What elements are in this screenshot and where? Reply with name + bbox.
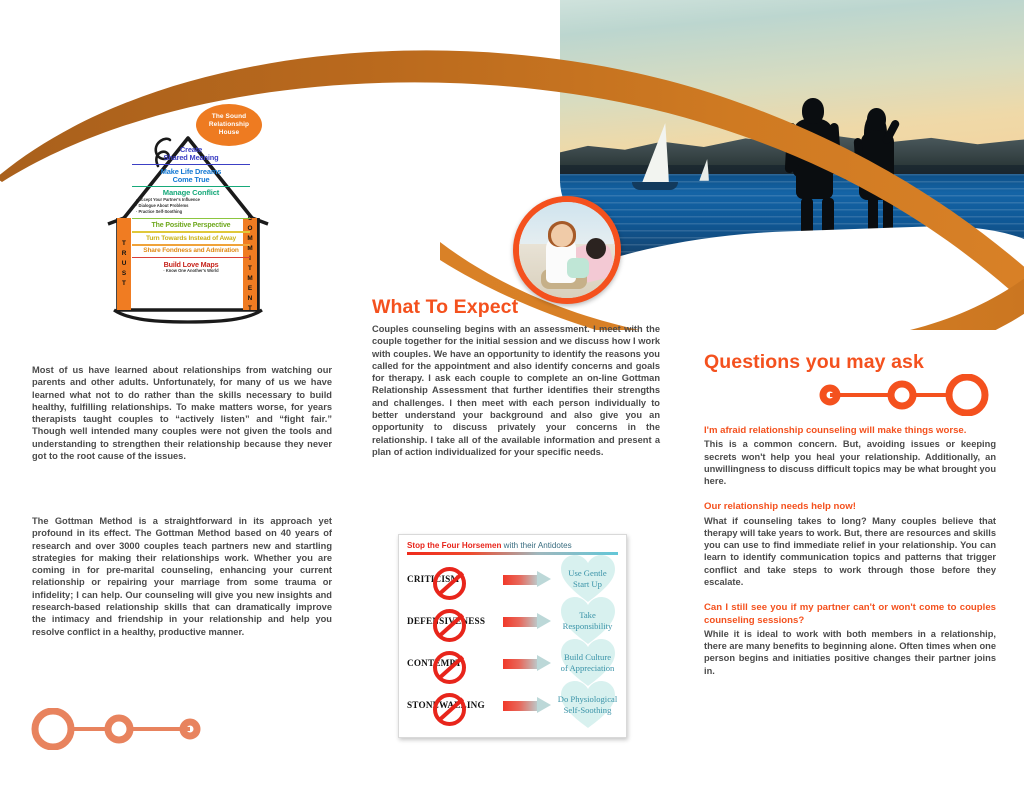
four-horsemen-chart: Stop the Four Horsemen with their Antido… xyxy=(398,534,627,738)
level-rule xyxy=(132,164,250,165)
dot-connector-left xyxy=(16,708,208,750)
horseman-cell: STONEWALLING xyxy=(407,700,503,710)
antidote-label: Build Cultureof Appreciation xyxy=(557,652,618,673)
arrow-icon xyxy=(503,571,555,587)
antidote-cell: TakeResponsibility xyxy=(557,610,618,631)
question-text: Our relationship needs help now! xyxy=(704,501,996,513)
inset-photo-counselor xyxy=(513,196,621,304)
left-column-paragraph-2: The Gottman Method is a straightforward … xyxy=(32,515,332,638)
answer-text: While it is ideal to work with both memb… xyxy=(704,628,996,677)
prohibition-icon xyxy=(433,693,466,726)
prohibition-icon xyxy=(433,609,466,642)
dot-connector-right xyxy=(812,374,1004,416)
question-text: I'm afraid relationship counseling will … xyxy=(704,425,996,437)
four-horsemen-title-light: with their Antidotes xyxy=(501,541,571,550)
brochure-page: The SoundRelationshipHouse TRUST COMMITM… xyxy=(0,0,1024,801)
questions-list: I'm afraid relationship counseling will … xyxy=(704,425,996,691)
what-to-expect-body: Couples counseling begins with an assess… xyxy=(372,323,660,458)
level-create-shared-meaning: CreateShared Meaning xyxy=(128,146,254,162)
level-make-life-dreams-come-true: Make Life DreamsCome True xyxy=(128,168,254,184)
level-rule xyxy=(132,186,250,187)
horseman-cell: CONTEMPT xyxy=(407,658,503,668)
four-horsemen-title-strong: Stop the Four Horsemen xyxy=(407,541,501,550)
antidote-cell: Do PhysiologicalSelf-Soothing xyxy=(557,694,618,715)
level-turn-towards-instead-of-away: Turn Towards Instead of Away xyxy=(128,235,254,242)
question-item: Our relationship needs help now! What if… xyxy=(704,501,996,588)
antidote-label: Use GentleStart Up xyxy=(557,568,618,589)
horseman-cell: DEFENSIVENESS xyxy=(407,616,503,626)
prohibition-icon xyxy=(433,567,466,600)
horseman-cell: CRITICISM xyxy=(407,574,503,584)
antidote-label: TakeResponsibility xyxy=(557,610,618,631)
arrow-icon xyxy=(503,697,555,713)
level-rule xyxy=(132,218,250,219)
level-build-love-maps: Build Love Maps xyxy=(128,261,254,269)
level-share-fondness-and-admiration: Share Fondness and Admiration xyxy=(128,248,254,255)
man-shorts xyxy=(796,165,833,199)
man-head xyxy=(802,98,824,124)
answer-text: This is a common concern. But, avoiding … xyxy=(704,438,996,487)
sailboat-hull xyxy=(632,182,678,190)
question-item: I'm afraid relationship counseling will … xyxy=(704,425,996,487)
manage-conflict-bullet-3: · Practice Self-Soothing xyxy=(136,209,254,215)
held-hands xyxy=(844,174,866,180)
sound-relationship-house-diagram: The SoundRelationshipHouse TRUST COMMITM… xyxy=(96,96,286,328)
four-horsemen-title: Stop the Four Horsemen with their Antido… xyxy=(407,541,618,550)
sound-relationship-house-badge: The SoundRelationshipHouse xyxy=(196,104,262,146)
level-rule xyxy=(132,257,250,258)
antidote-label: Do PhysiologicalSelf-Soothing xyxy=(557,694,618,715)
level-rule xyxy=(132,231,250,232)
child-figure xyxy=(567,258,589,278)
left-column-paragraph-1: Most of us have learned about relationsh… xyxy=(32,364,332,462)
what-to-expect-title: What To Expect xyxy=(372,296,518,319)
arrow-icon xyxy=(503,655,555,671)
arrow-icon xyxy=(503,613,555,629)
woman-head xyxy=(867,108,886,131)
antidote-cell: Use GentleStart Up xyxy=(557,568,618,589)
house-levels: CreateShared Meaning Make Life DreamsCom… xyxy=(128,146,254,274)
answer-text: What if counseling takes to long? Many c… xyxy=(704,515,996,589)
pillar-trust-label: TRUST xyxy=(122,239,127,289)
woman-face xyxy=(551,224,573,247)
antidote-cell: Build Cultureof Appreciation xyxy=(557,652,618,673)
level-manage-conflict: Manage Conflict xyxy=(128,189,254,197)
horsemen-row: STONEWALLING Do PhysiologicalSelf-Soothi… xyxy=(407,684,618,726)
questions-you-may-ask-title: Questions you may ask xyxy=(704,351,924,374)
level-the-positive-perspective: The Positive Perspective xyxy=(128,222,254,229)
prohibition-icon xyxy=(433,651,466,684)
question-item: Can I still see you if my partner can't … xyxy=(704,602,996,677)
question-text: Can I still see you if my partner can't … xyxy=(704,602,996,626)
level-rule xyxy=(132,244,250,245)
build-love-maps-sub: · Know One Another's World xyxy=(128,268,254,274)
